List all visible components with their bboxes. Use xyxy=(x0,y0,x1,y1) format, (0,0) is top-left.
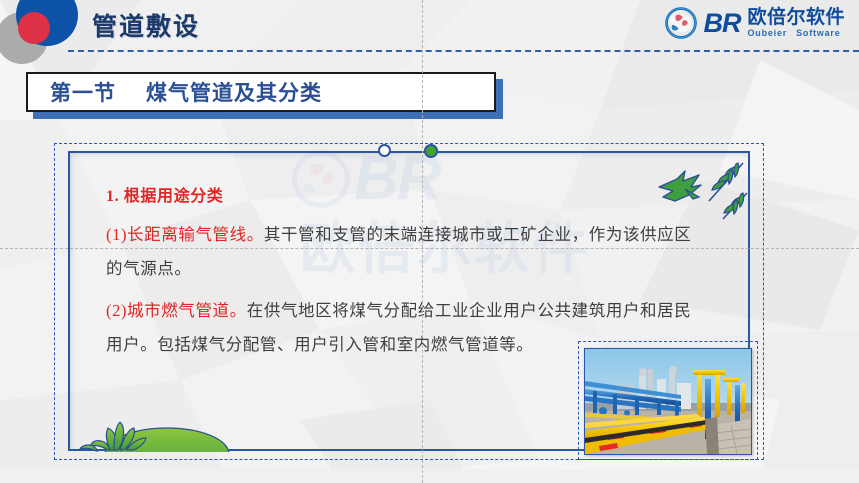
brand-name-block: 欧倍尔软件 Oubeier Software xyxy=(745,8,845,38)
red-circle-icon xyxy=(18,12,50,44)
bottom-strip xyxy=(0,469,859,483)
page-title: 管道敷设 xyxy=(92,7,200,43)
paragraph-1: (1)长距离输气管线。其干管和支管的末端连接城市或工矿企业，作为该供应区的气源点… xyxy=(106,218,706,286)
vertical-smart-guide xyxy=(422,0,423,483)
brand-cn-name: 欧倍尔软件 xyxy=(747,8,845,27)
content-heading: 1. 根据用途分类 xyxy=(106,180,706,214)
brand-en-name: Oubeier Software xyxy=(747,29,845,38)
paragraph-2-red-lead: (2)城市燃气管道。 xyxy=(106,301,247,320)
globe-logo-icon xyxy=(664,6,698,40)
body-text-block[interactable]: 1. 根据用途分类 (1)长距离输气管线。其干管和支管的末端连接城市或工矿企业，… xyxy=(106,180,706,362)
logo-circles-cluster xyxy=(0,0,86,56)
pipeline-photo-graphic xyxy=(585,349,751,454)
slide-canvas: 管道敷设 BR 欧倍尔软件 Oubeier Software 第一节 煤气管道及… xyxy=(0,0,859,483)
section-title-text: 煤气管道及其分类 xyxy=(146,77,322,107)
industrial-gas-pipeline-photo[interactable] xyxy=(584,348,752,455)
resize-handle-hollow-icon[interactable] xyxy=(378,144,391,157)
section-number-label: 第一节 xyxy=(50,77,116,107)
section-title-box[interactable]: 第一节 煤气管道及其分类 xyxy=(26,72,496,112)
paragraph-1-red-lead: (1)长距离输气管线。 xyxy=(106,225,264,244)
header-dashed-divider xyxy=(68,50,859,52)
brand-en-word1: Oubeier xyxy=(747,29,787,38)
brand-logo: BR 欧倍尔软件 Oubeier Software xyxy=(664,6,845,40)
rotate-handle-green-icon[interactable] xyxy=(424,144,438,158)
horizontal-smart-guide xyxy=(0,248,859,249)
brand-obr-text: BR xyxy=(703,10,740,37)
brand-en-word2: Software xyxy=(796,29,840,38)
